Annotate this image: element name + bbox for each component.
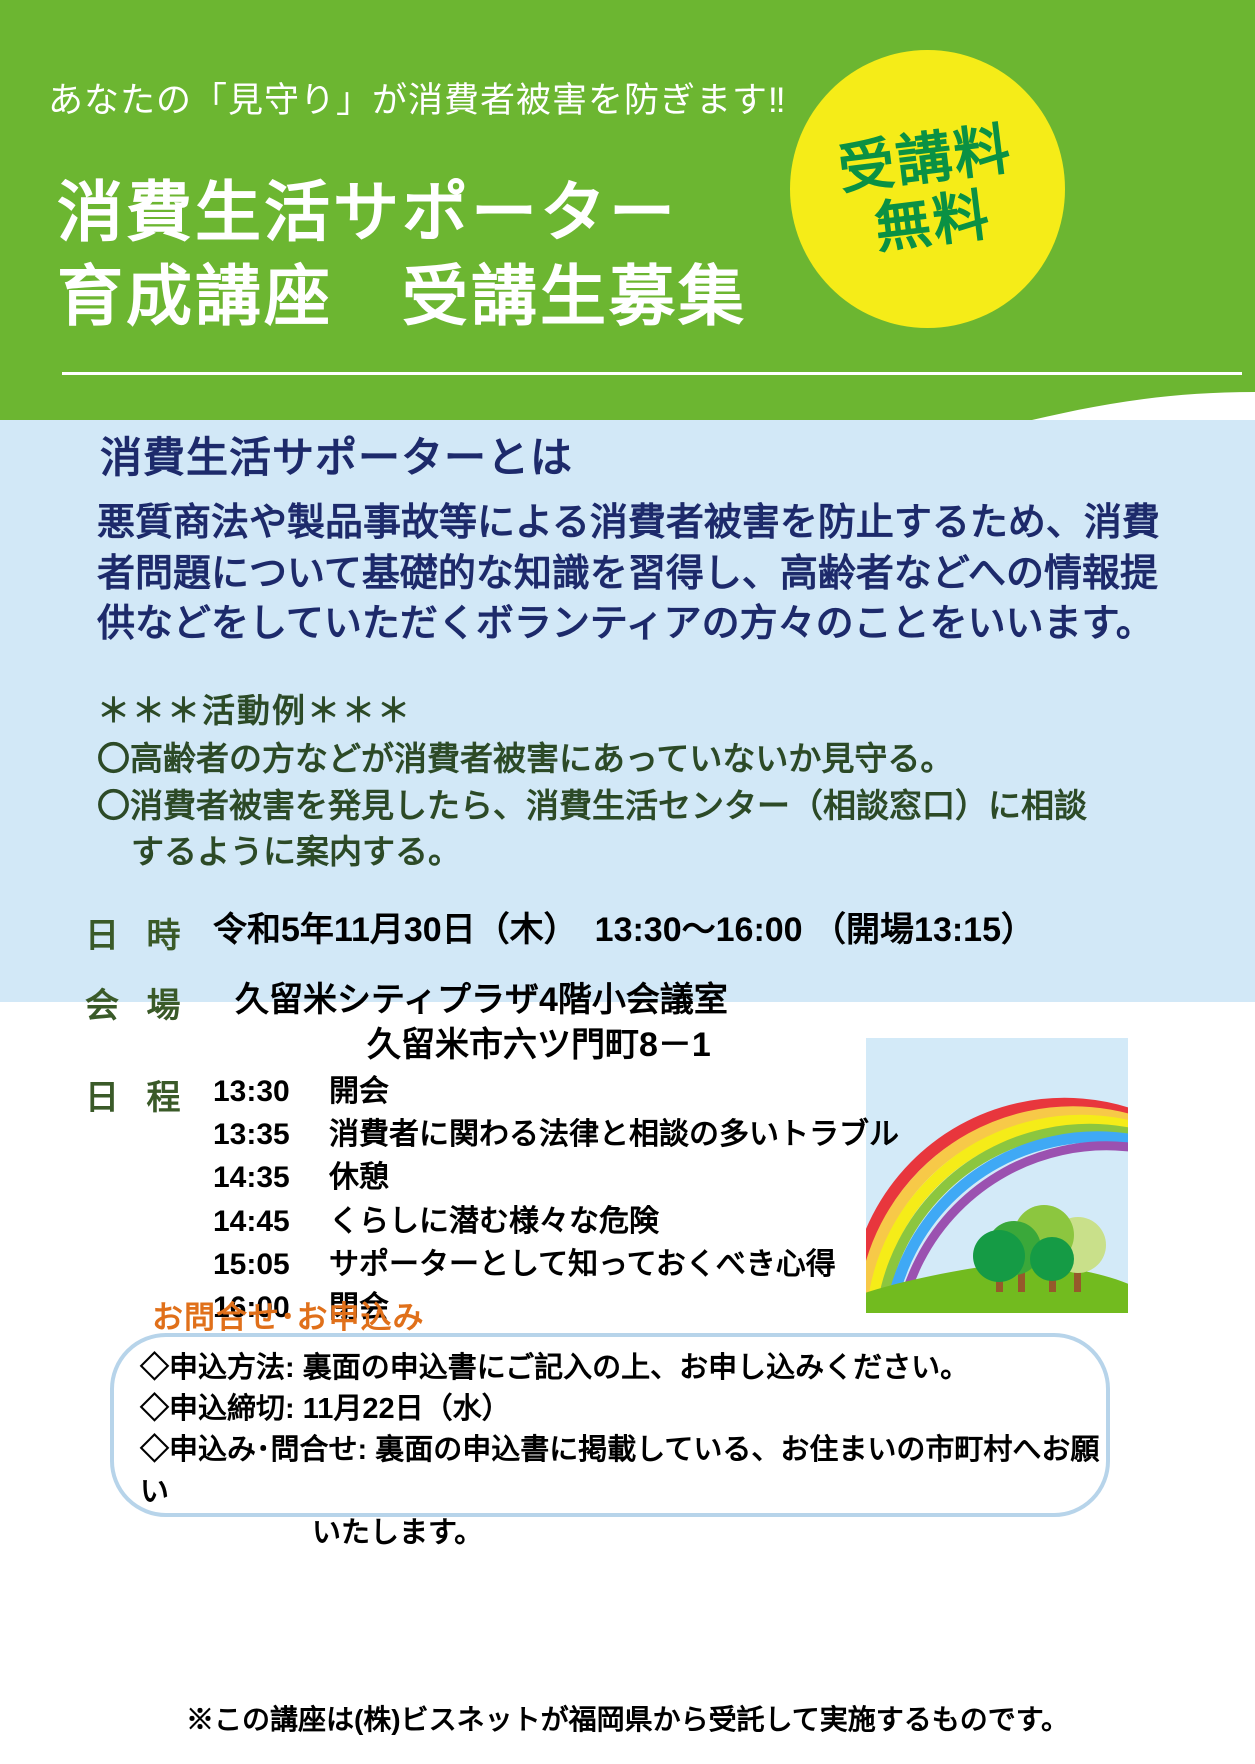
example-item-2: 〇消費者被害を発見したら、消費生活センター（相談窓口）に相談	[97, 783, 1167, 829]
agenda-row: 14:35休憩	[213, 1156, 899, 1199]
agenda-topic: 休憩	[321, 1156, 389, 1199]
agenda-time: 14:35	[213, 1156, 321, 1199]
detail-row-agenda: 日 程 13:30開会13:35消費者に関わる法律と相談の多いトラブル14:35…	[85, 1070, 899, 1329]
footer-note: ※この講座は(株)ビスネットが福岡県から受託して実施するものです。	[0, 1698, 1255, 1738]
examples-title: ＊＊＊活動例＊＊＊	[97, 688, 1167, 734]
agenda-topic: サポーターとして知っておくべき心得	[321, 1243, 836, 1286]
agenda-row: 15:05サポーターとして知っておくべき心得	[213, 1243, 899, 1286]
venue-address: 久留米市六ツ門町8－1	[235, 1023, 728, 1068]
agenda-row: 14:45くらしに潜む様々な危険	[213, 1200, 899, 1243]
title-line-1: 消費生活サポーター	[57, 175, 678, 249]
label-datetime: 日 時	[85, 908, 213, 957]
activity-examples: ＊＊＊活動例＊＊＊ 〇高齢者の方などが消費者被害にあっていないか見守る。 〇消費…	[97, 688, 1167, 874]
label-agenda: 日 程	[85, 1070, 213, 1119]
application-details: ◇申込方法: 裏面の申込書にご記入の上、お申し込みください。 ◇申込締切: 11…	[140, 1348, 1100, 1554]
contact-heading: お問合せ･お申込み	[152, 1292, 425, 1337]
agenda-time: 15:05	[213, 1243, 321, 1286]
rainbow-trees-illustration	[866, 1038, 1128, 1313]
application-deadline: ◇申込締切: 11月22日（水）	[140, 1389, 1100, 1430]
agenda-topic: くらしに潜む様々な危険	[321, 1200, 659, 1243]
page-title: 消費生活サポーター 育成講座 受講生募集	[57, 170, 747, 339]
detail-row-venue: 会 場 久留米シティプラザ4階小会議室久留米市六ツ門町8－1	[85, 978, 728, 1068]
agenda-row: 13:30開会	[213, 1070, 899, 1113]
label-venue: 会 場	[85, 978, 213, 1027]
value-venue: 久留米シティプラザ4階小会議室久留米市六ツ門町8－1	[213, 978, 728, 1068]
header-kicker: あなたの「見守り」が消費者被害を防ぎます‼	[48, 72, 787, 123]
agenda-list: 13:30開会13:35消費者に関わる法律と相談の多いトラブル14:35休憩14…	[213, 1070, 899, 1329]
agenda-time: 14:45	[213, 1200, 321, 1243]
example-item-2-continuation: するように案内する。	[97, 829, 1167, 875]
detail-row-datetime: 日 時 令和5年11月30日（木） 13:30〜16:00 （開場13:15）	[85, 908, 1035, 957]
agenda-topic: 消費者に関わる法律と相談の多いトラブル	[321, 1113, 899, 1156]
agenda-time: 13:35	[213, 1113, 321, 1156]
application-inquiry: ◇申込み･問合せ: 裏面の申込書に掲載している、お住まいの市町村へお願い	[140, 1430, 1100, 1512]
application-inquiry-continuation: いたします。	[140, 1513, 1100, 1554]
title-divider	[62, 372, 1242, 375]
agenda-time: 13:30	[213, 1070, 321, 1113]
venue-name: 久留米シティプラザ4階小会議室	[235, 981, 728, 1019]
about-heading: 消費生活サポーターとは	[100, 424, 573, 485]
about-description: 悪質商法や製品事故等による消費者被害を防止するため、消費者問題について基礎的な知…	[97, 498, 1167, 650]
value-datetime: 令和5年11月30日（木） 13:30〜16:00 （開場13:15）	[213, 908, 1035, 953]
application-method: ◇申込方法: 裏面の申込書にご記入の上、お申し込みください。	[140, 1348, 1100, 1389]
agenda-row: 13:35消費者に関わる法律と相談の多いトラブル	[213, 1113, 899, 1156]
example-item-1: 〇高齢者の方などが消費者被害にあっていないか見守る。	[97, 736, 1167, 782]
agenda-topic: 開会	[321, 1070, 389, 1113]
title-line-2: 育成講座 受講生募集	[57, 259, 747, 333]
badge-line-2: 無料	[871, 183, 994, 260]
poster-root: あなたの「見守り」が消費者被害を防ぎます‼ 消費生活サポーター 育成講座 受講生…	[0, 0, 1255, 1764]
